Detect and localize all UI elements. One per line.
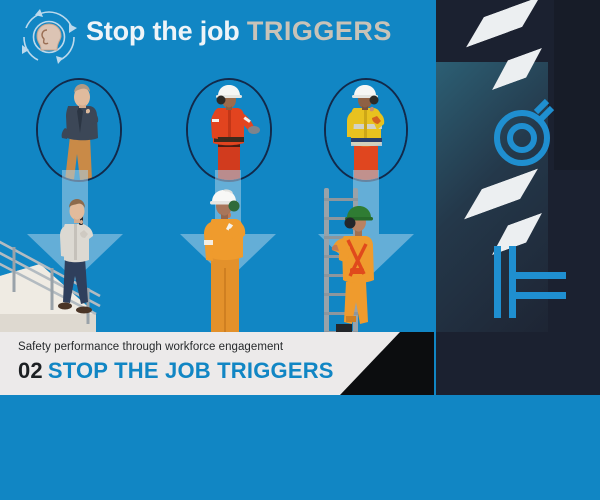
brain-head-cycle-icon [16,6,82,68]
poster-root: Stop the job TRIGGERS [0,0,600,500]
title-strong: TRIGGERS [247,16,392,46]
title-light: Stop the job [86,16,240,46]
target-ring-icon [489,98,559,170]
caption-headline: STOP THE JOB TRIGGERS [48,358,334,383]
f-geometric-mark-icon [492,242,570,320]
figure-worker-climbing-ladder [330,196,382,336]
figure-worker-orange-coveralls-thinking [200,186,250,334]
caption-bar: Safety performance through workforce eng… [0,332,600,395]
circle-portrait-worker-hivis-thinking [324,78,408,182]
parallelogram-slab-icon [466,0,540,47]
caption-subtitle: Safety performance through workforce eng… [18,341,283,353]
caption-panel: Safety performance through workforce eng… [0,332,400,395]
circle-portrait-man-thinking [36,78,122,182]
panel-dark-corner [554,0,600,170]
ladder-rail-left [324,188,329,338]
caption-headline-row: 02STOP THE JOB TRIGGERS [18,358,334,384]
footer-blue-area [0,395,600,500]
caption-number: 02 [18,358,43,383]
circle-portrait-worker-orange-gesturing [186,78,272,182]
page-title: Stop the job TRIGGERS [86,14,392,48]
header: Stop the job TRIGGERS [0,0,440,70]
figure-man-on-stairs-phone [52,196,98,320]
